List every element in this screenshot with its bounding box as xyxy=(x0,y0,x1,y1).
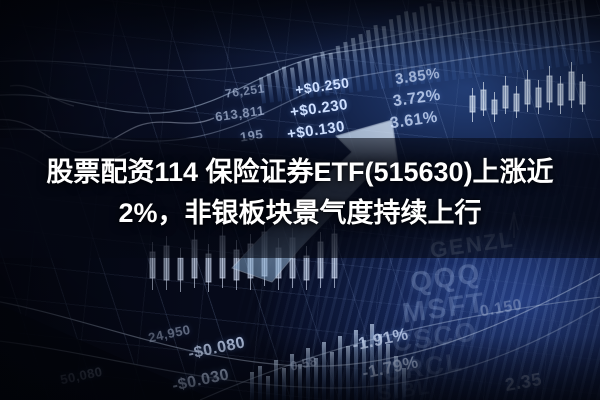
headline-text: 股票配资114 保险证券ETF(515630)上涨近 2%，非银板块景气度持续上… xyxy=(0,152,600,234)
headline-line-2: 2%，非银板块景气度持续上行 xyxy=(36,193,564,234)
headline-line-1: 股票配资114 保险证券ETF(515630)上涨近 xyxy=(36,152,564,193)
news-banner-image: +$0.250 3.85% 76,251 +$0.230 3.72% 613,8… xyxy=(0,0,600,400)
